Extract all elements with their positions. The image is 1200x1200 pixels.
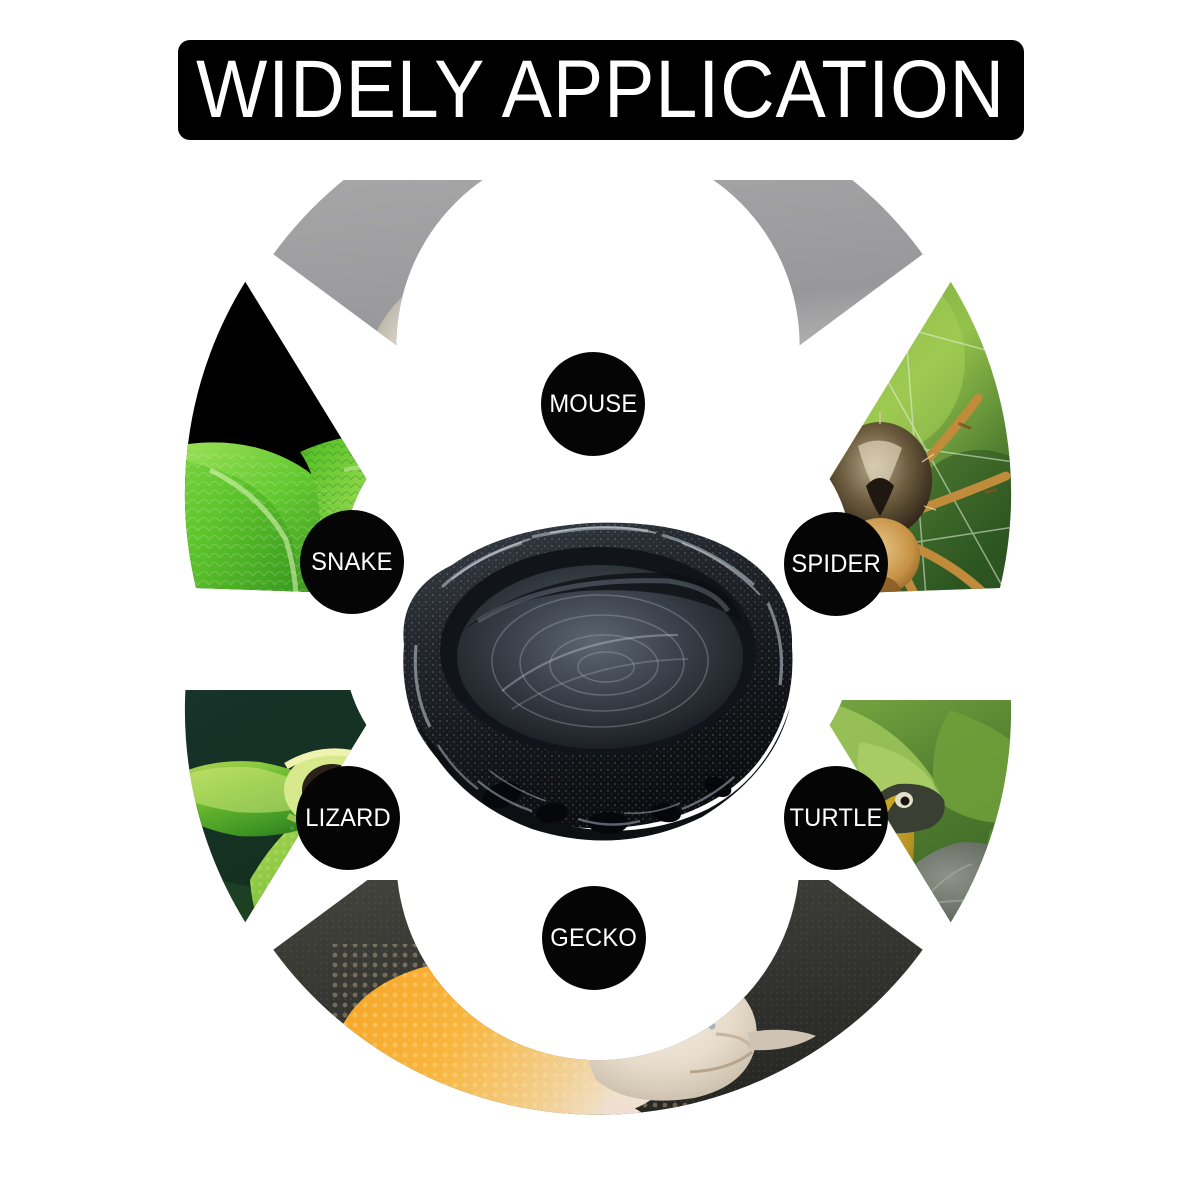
badge-lizard[interactable]: LIZARD [296,766,400,870]
badge-gecko-label: GECKO [551,926,638,951]
badge-turtle[interactable]: TURTLE [784,766,888,870]
badge-mouse-label: MOUSE [549,392,637,417]
badge-spider-label: SPIDER [791,552,881,577]
badge-lizard-label: LIZARD [305,806,391,831]
rock-bowl-svg [382,495,812,855]
badge-mouse[interactable]: MOUSE [541,352,645,456]
badge-snake[interactable]: SNAKE [300,510,404,614]
infographic-stage: WIDELY APPLICATION [0,0,1200,1200]
badge-snake-label: SNAKE [311,550,392,575]
badge-gecko[interactable]: GECKO [542,886,646,990]
badge-turtle-label: TURTLE [789,806,882,831]
badge-spider[interactable]: SPIDER [784,512,888,616]
product-image [382,495,812,855]
